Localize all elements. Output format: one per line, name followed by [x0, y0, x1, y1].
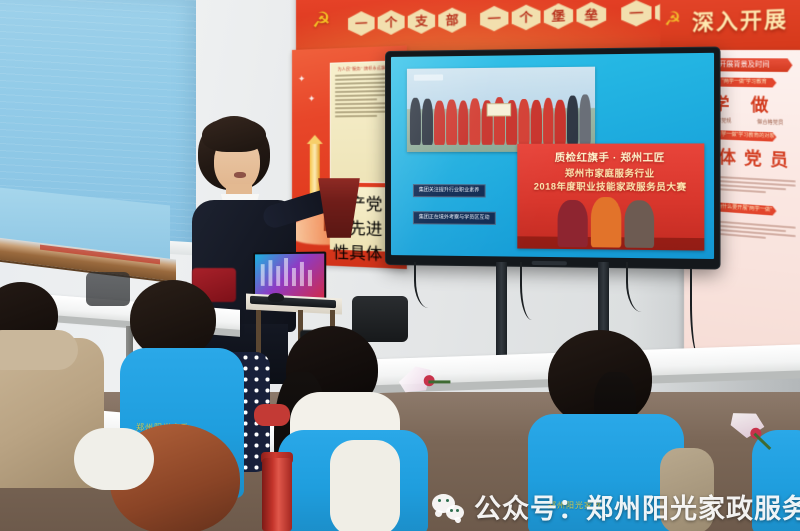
computer-mouse[interactable]: [268, 293, 284, 302]
banner-right-headline: 深入开展: [692, 2, 788, 37]
poster-tag-3: 为什么要开展"两学一做": [713, 202, 777, 216]
red-scarf: [254, 404, 290, 426]
poster-tag-1: "两学一做"学习教育: [713, 77, 777, 87]
award-line-3: 2018年度职业技能家政服务员大赛: [517, 180, 704, 194]
slide-photo-logo: [414, 74, 444, 80]
white-scarf: [74, 428, 154, 490]
presenter-laptop[interactable]: [253, 252, 326, 301]
dove-icon: ✦: [308, 93, 316, 104]
slogan-char: 垒: [576, 1, 606, 28]
wall-cable: [690, 268, 706, 358]
slogan-char: 支: [408, 8, 435, 34]
slide-group-photo: [407, 67, 595, 152]
slogan-char: 个: [378, 10, 405, 36]
poster-tag-2: "两学一做"学习教育的对象: [713, 130, 777, 142]
slide-tag-1: 集团关注提升行业职业素养: [413, 184, 486, 197]
tv-bezel: 质检红旗手 · 郑州工匠 郑州市家庭服务行业 2018年度职业技能家政服务员大赛…: [386, 48, 719, 269]
watermark-text: 公众号：郑州阳光家政服务公司: [474, 487, 800, 526]
wechat-icon: [432, 493, 464, 520]
slogan-char: 一: [621, 0, 651, 27]
red-thermos[interactable]: [262, 458, 292, 531]
award-line-2: 郑州市家庭服务行业: [517, 167, 704, 181]
award-photo-people: [557, 196, 654, 248]
slogan-char: 一: [348, 11, 375, 36]
award-banner-text: 质检红旗手 · 郑州工匠 郑州市家庭服务行业 2018年度职业技能家政服务员大赛: [517, 150, 704, 197]
laptop-screen-content: [255, 254, 324, 299]
slogan-char: 堡: [544, 3, 573, 30]
attendee-head: [130, 280, 216, 358]
chair-back: [86, 272, 130, 306]
slogan-char: 部: [438, 7, 466, 33]
presentation-television[interactable]: 质检红旗手 · 郑州工匠 郑州市家庭服务行业 2018年度职业技能家政服务员大赛…: [386, 48, 719, 269]
award-plaque: [486, 103, 511, 116]
dove-icon: ✦: [298, 74, 305, 85]
presenter-fringe: [202, 118, 266, 152]
flower-stem: [428, 380, 450, 383]
presenter-mouth: [234, 172, 246, 178]
tv-screen: 质检红旗手 · 郑州工匠 郑州市家庭服务行业 2018年度职业技能家政服务员大赛…: [391, 53, 714, 259]
poster-sub-right: 做合格党员: [757, 118, 783, 126]
slide-award-photo: 质检红旗手 · 郑州工匠 郑州市家庭服务行业 2018年度职业技能家政服务员大赛: [517, 144, 704, 251]
meeting-room-photo: ☭ 一 个 支 部 一 个 堡 垒 一 个 党 员 一: [0, 0, 800, 531]
award-line-1: 质检红旗手 · 郑州工匠: [517, 152, 704, 167]
party-emblem-icon: ☭: [664, 8, 681, 32]
inner-jacket: [330, 440, 400, 531]
wechat-watermark: 公众号：郑州阳光家政服务公司: [432, 487, 800, 526]
coat-fur-collar: [0, 330, 78, 370]
slogan-char: 个: [512, 4, 541, 30]
slide-tag-2: 集团正在境外考察与学员区互动: [413, 212, 496, 226]
party-emblem-icon: ☭: [312, 10, 338, 33]
group-photo-people: [410, 92, 591, 145]
slogan-char: 一: [480, 5, 508, 31]
